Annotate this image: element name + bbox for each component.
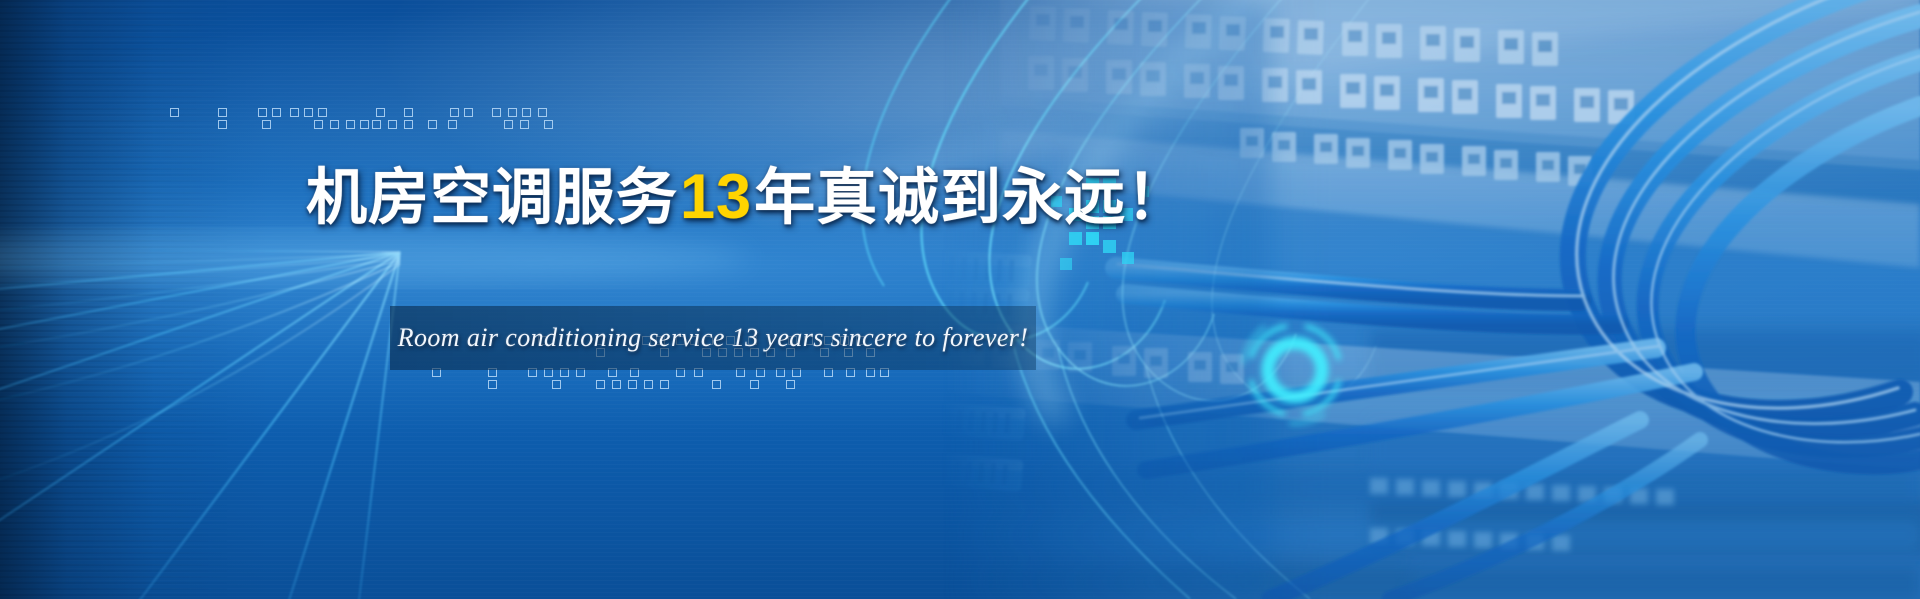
headline-prefix: 机房空调服务 bbox=[306, 163, 678, 231]
headline-number: 13 bbox=[678, 162, 754, 232]
banner-subtitle: Room air conditioning service 13 years s… bbox=[398, 323, 1029, 353]
hero-banner: 机房空调服务13年真诚到永远！ Room air conditioning se… bbox=[0, 0, 1920, 599]
banner-text-block: 机房空调服务13年真诚到永远！ Room air conditioning se… bbox=[306, 166, 1066, 229]
subtitle-band: Room air conditioning service 13 years s… bbox=[390, 306, 1036, 370]
headline-suffix: 年真诚到永远！ bbox=[754, 163, 1188, 231]
banner-headline: 机房空调服务13年真诚到永远！ bbox=[306, 166, 1066, 229]
binary-square-pattern-bottom bbox=[0, 0, 1920, 599]
